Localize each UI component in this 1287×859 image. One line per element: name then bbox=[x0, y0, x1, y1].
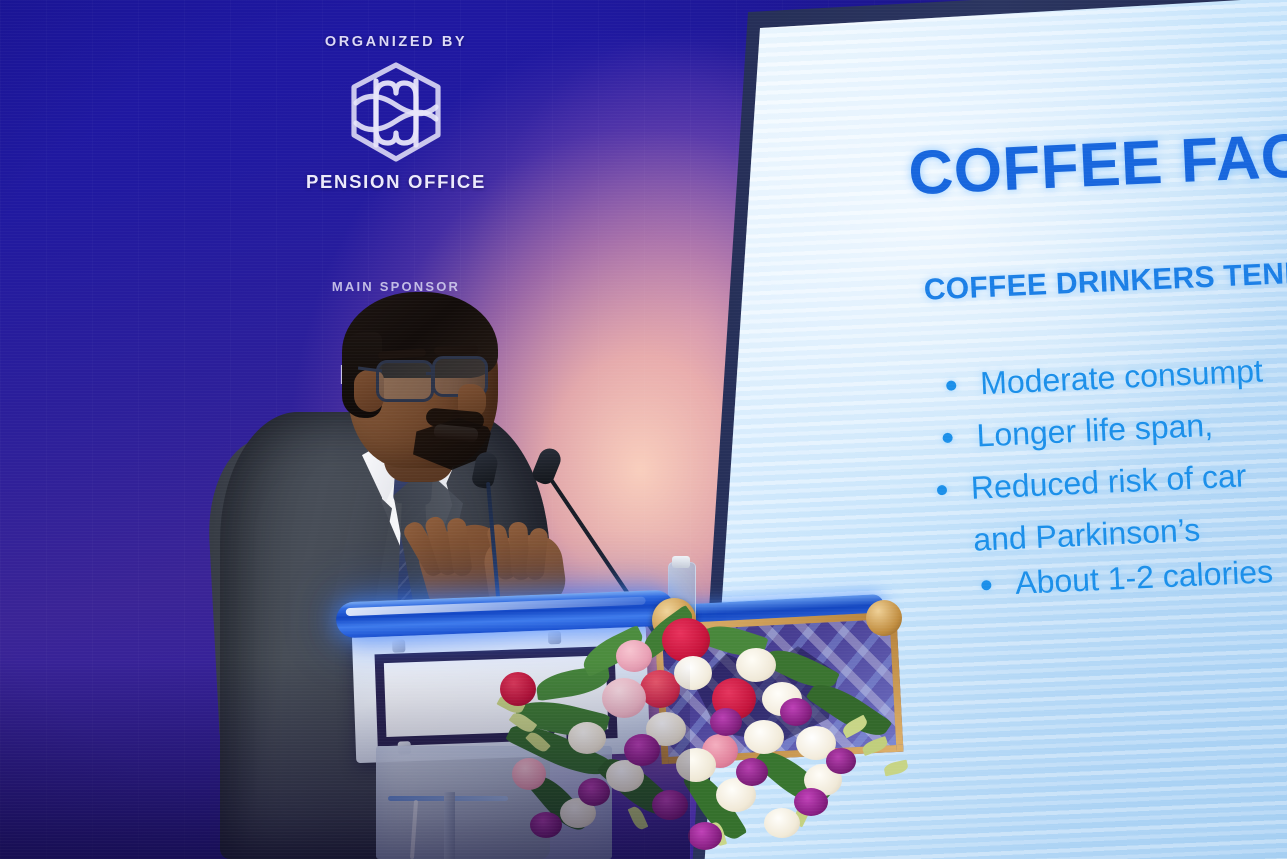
purple-orchid bbox=[652, 790, 688, 820]
water-bottle-cap bbox=[672, 556, 690, 568]
pension-office-monogram-icon bbox=[332, 59, 460, 167]
glasses-bridge bbox=[426, 372, 435, 375]
purple-orchid bbox=[794, 788, 828, 816]
pink-rose bbox=[616, 640, 652, 672]
glasses-lens-left bbox=[376, 360, 434, 402]
white-orchid bbox=[736, 648, 776, 682]
bullet-dot-icon bbox=[942, 433, 952, 443]
slide-bullet-item: Moderate consumpt bbox=[945, 338, 1287, 407]
purple-orchid bbox=[710, 708, 742, 736]
orchid-bud-spray bbox=[861, 736, 890, 756]
pink-rose bbox=[602, 678, 646, 718]
purple-orchid bbox=[736, 758, 768, 786]
orchid-bud-spray bbox=[883, 760, 909, 777]
white-orchid bbox=[744, 720, 784, 754]
slide-bullet-list: Moderate consumpt Longer life span, Redu… bbox=[931, 338, 1287, 616]
white-orchid bbox=[676, 748, 716, 782]
red-rose bbox=[500, 672, 536, 706]
organized-by-label: ORGANIZED BY bbox=[296, 34, 496, 50]
pension-office-wordmark: PENSION OFFICE bbox=[296, 171, 496, 193]
pink-rose bbox=[512, 758, 546, 790]
slide-heading: COFFEE FACT! bbox=[907, 118, 1287, 210]
purple-orchid bbox=[530, 812, 562, 838]
presentation-photo: ORGANIZED BY PENSION OFFICE MAIN SPONSOR… bbox=[0, 0, 1287, 859]
slide-bullet-text: Reduced risk of car bbox=[970, 454, 1247, 511]
organizer-brand-block: ORGANIZED BY PENSION OFFICE bbox=[296, 34, 496, 193]
white-orchid bbox=[764, 808, 800, 838]
panel-clip bbox=[392, 639, 405, 652]
floral-arrangement bbox=[506, 612, 926, 859]
purple-orchid bbox=[826, 748, 856, 774]
slide-subheading: COFFEE DRINKERS TEND bbox=[923, 256, 1287, 307]
purple-orchid bbox=[624, 734, 660, 766]
white-orchid bbox=[568, 722, 606, 754]
red-rose bbox=[662, 618, 710, 662]
purple-orchid bbox=[578, 778, 610, 806]
eyebrow-right bbox=[434, 345, 478, 355]
bullet-dot-icon bbox=[981, 580, 991, 590]
purple-orchid bbox=[688, 822, 722, 850]
bullet-dot-icon bbox=[937, 485, 947, 495]
slide-bullet-text: Longer life span, bbox=[976, 403, 1214, 458]
purple-orchid bbox=[780, 698, 812, 726]
slide-bullet-text: Moderate consumpt bbox=[979, 349, 1264, 406]
podium-support-leg bbox=[444, 792, 455, 859]
bullet-dot-icon bbox=[946, 380, 956, 390]
white-orchid bbox=[674, 656, 712, 690]
